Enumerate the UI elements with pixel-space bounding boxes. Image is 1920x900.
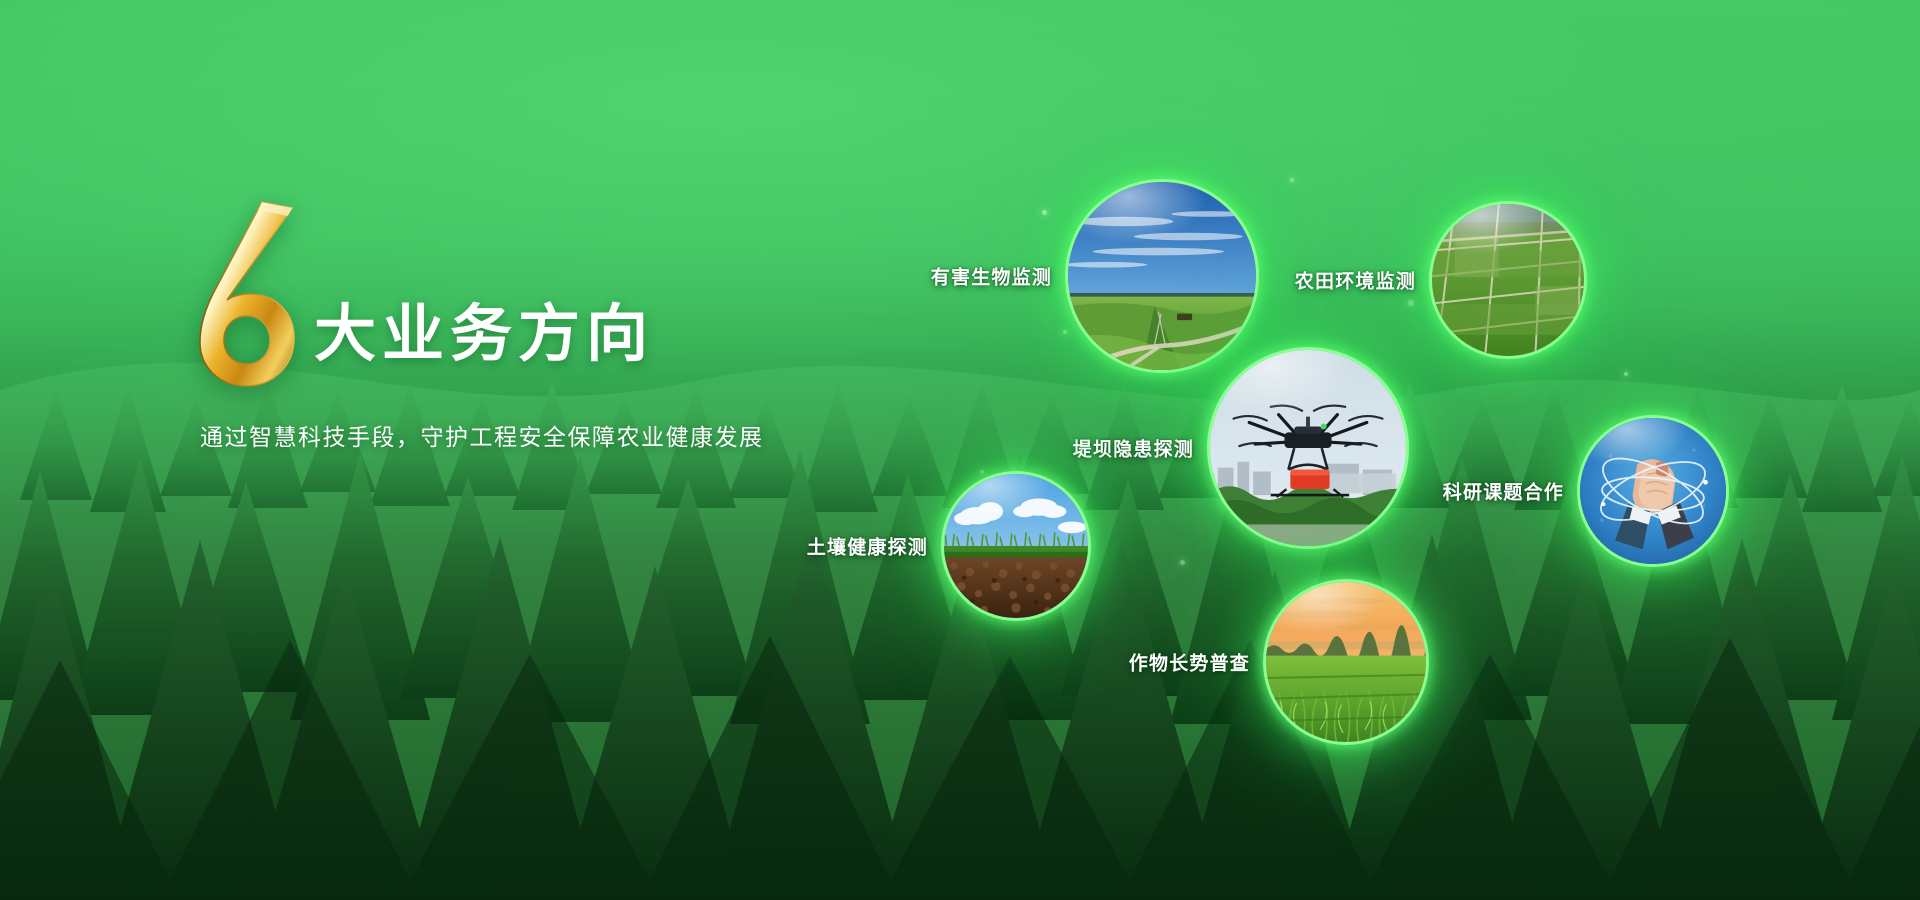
bubble-pest-monitoring[interactable]: 有害生物监测 bbox=[1068, 182, 1256, 370]
bubble-image-research-cooperation bbox=[1580, 418, 1726, 564]
bubble-image-pest-monitoring bbox=[1068, 182, 1256, 370]
scene-handshake-orbit bbox=[1580, 418, 1726, 564]
bubble-label-farmland-environment: 农田环境监测 bbox=[1295, 267, 1416, 294]
scene-corn-field-sunset bbox=[1266, 582, 1426, 742]
scene-survey-drone bbox=[1210, 350, 1406, 546]
bubble-soil-health-detection[interactable]: 土壤健康探测 bbox=[944, 474, 1088, 618]
bubble-research-cooperation[interactable]: 科研课题合作 bbox=[1580, 418, 1726, 564]
bubble-label-soil-health: 土壤健康探测 bbox=[807, 533, 928, 560]
bubble-image-soil-health bbox=[944, 474, 1088, 618]
bubble-label-pest-monitoring: 有害生物监测 bbox=[931, 263, 1052, 290]
banner-root: 大业务方向 通过智慧科技手段，守护工程安全保障农业健康发展 bbox=[0, 0, 1920, 900]
bubble-crop-growth-survey[interactable]: 作物长势普查 bbox=[1266, 582, 1426, 742]
bubble-image-farmland-environment bbox=[1432, 204, 1584, 356]
bubble-image-crop-growth bbox=[1266, 582, 1426, 742]
scene-levee-landscape bbox=[1068, 182, 1256, 370]
bubble-farmland-environment-monitoring[interactable]: 农田环境监测 bbox=[1432, 204, 1584, 356]
page-title: 大业务方向 bbox=[314, 304, 654, 388]
bubble-image-dam-hazard bbox=[1210, 350, 1406, 546]
bubble-label-crop-growth: 作物长势普查 bbox=[1129, 649, 1250, 676]
number-six-gold bbox=[196, 196, 300, 388]
bubble-label-research-cooperation: 科研课题合作 bbox=[1443, 478, 1564, 505]
bubble-dam-hazard-detection[interactable]: 堤坝隐患探测 bbox=[1210, 350, 1406, 546]
scene-soil-cross-section bbox=[944, 474, 1088, 618]
headline-block: 大业务方向 通过智慧科技手段，守护工程安全保障农业健康发展 bbox=[196, 196, 956, 452]
bubble-label-dam-hazard: 堤坝隐患探测 bbox=[1073, 435, 1194, 462]
title-row: 大业务方向 bbox=[196, 196, 956, 388]
scene-aerial-farmland bbox=[1432, 204, 1584, 356]
page-subtitle: 通过智慧科技手段，守护工程安全保障农业健康发展 bbox=[200, 418, 956, 452]
